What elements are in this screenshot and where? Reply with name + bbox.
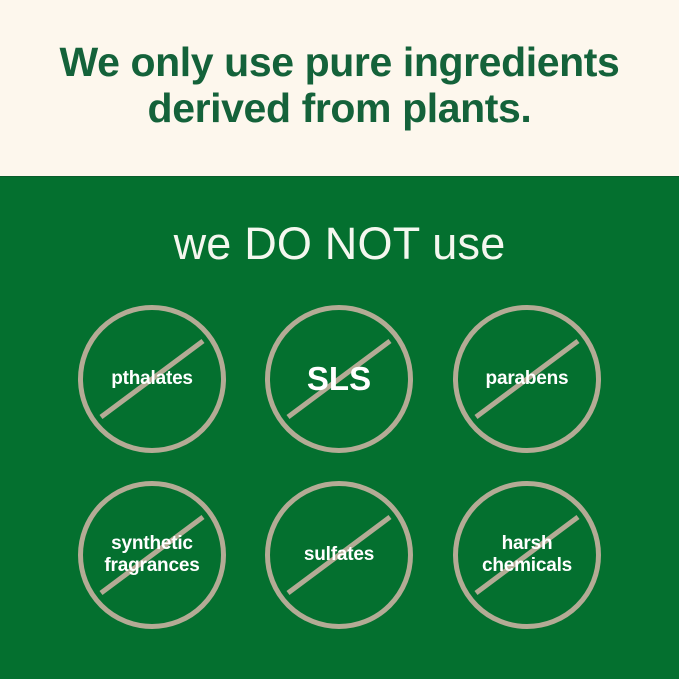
badge-harsh-chemicals: harsh chemicals — [452, 480, 602, 630]
badge-pthalates: pthalates — [77, 304, 227, 454]
badge-sls: SLS — [264, 304, 414, 454]
badge-label: SLS — [264, 304, 414, 454]
badge-grid: pthalates SLS parabens — [0, 289, 679, 661]
badge-label: harsh chemicals — [452, 480, 602, 630]
section-heading: we DO NOT use — [0, 218, 679, 270]
badge-label: pthalates — [77, 304, 227, 454]
page-title: We only use pure ingredients derived fro… — [60, 40, 620, 132]
badge-sulfates: sulfates — [264, 480, 414, 630]
badge-label: synthetic fragrances — [77, 480, 227, 630]
header-band: We only use pure ingredients derived fro… — [0, 0, 679, 177]
badge-label: parabens — [452, 304, 602, 454]
do-not-use-section: we DO NOT use pthalates SLS — [0, 177, 679, 679]
badge-label: sulfates — [264, 480, 414, 630]
ingredient-promise-poster: We only use pure ingredients derived fro… — [0, 0, 679, 679]
badge-synthetic-fragrances: synthetic fragrances — [77, 480, 227, 630]
badge-parabens: parabens — [452, 304, 602, 454]
